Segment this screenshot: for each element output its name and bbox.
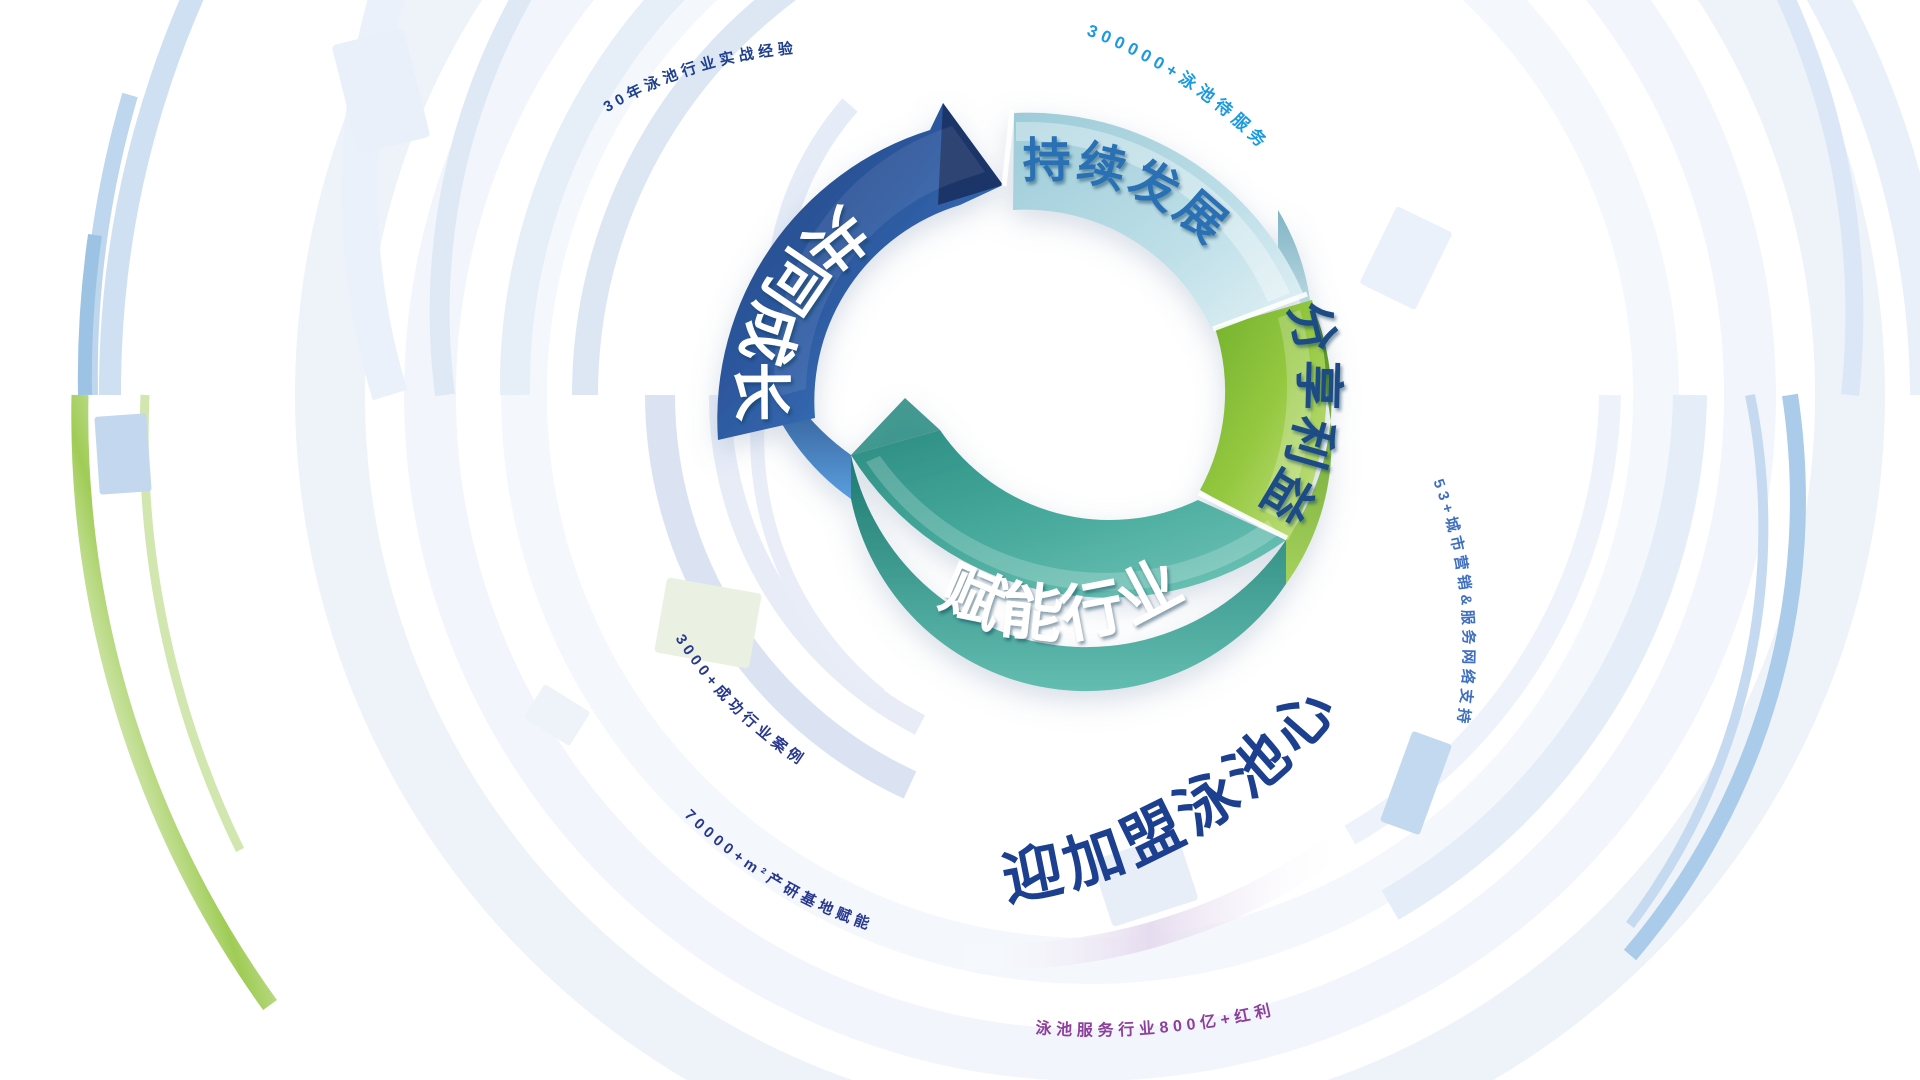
- infographic-artwork: 共同成长 持续发展 分享利益 赋能行业 30年泳池行业实战经验 300000+泳…: [0, 0, 1920, 1080]
- poster-canvas: 共同成长 持续发展 分享利益 赋能行业 30年泳池行业实战经验 300000+泳…: [0, 0, 1920, 1080]
- stat-label-city-network: 53+城市营销&服务网络支持: [1429, 477, 1477, 729]
